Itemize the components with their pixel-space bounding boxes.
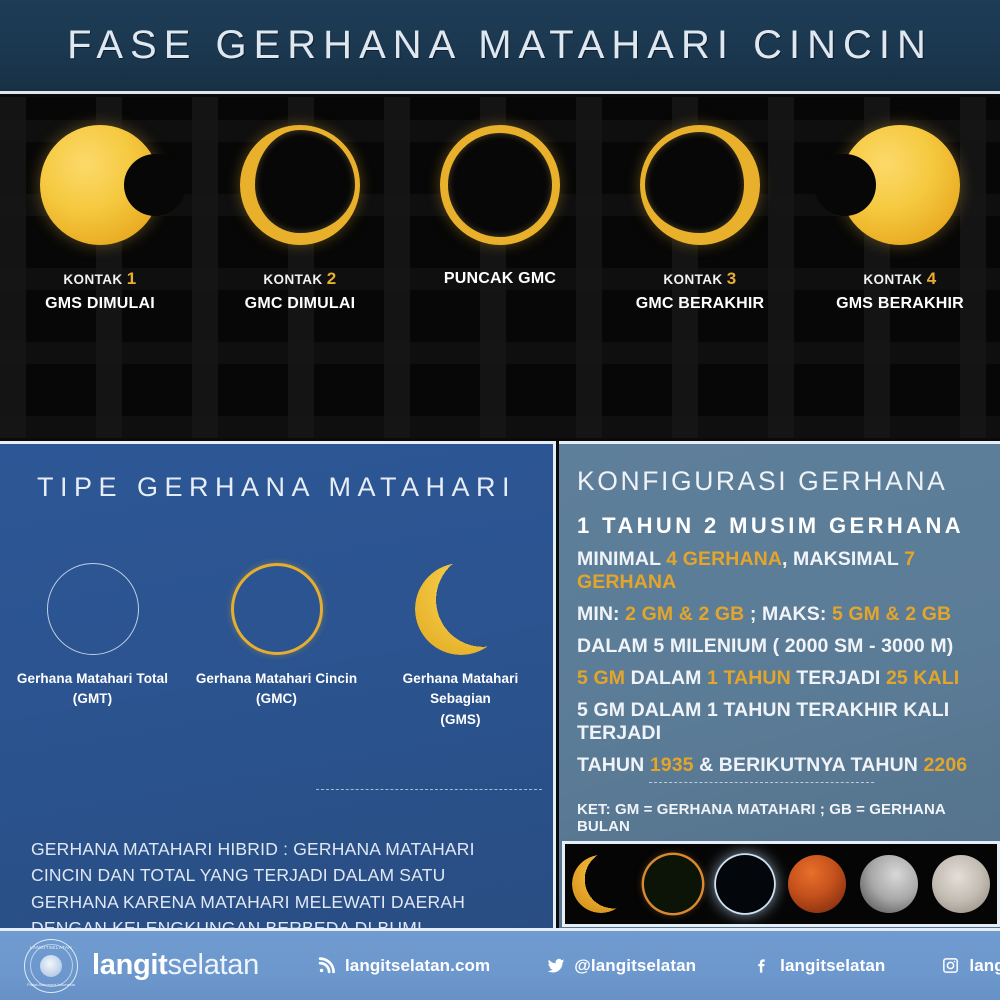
eclipse-type-annular: Gerhana Matahari Cincin (GMC) <box>189 555 365 730</box>
configuration-subtitle: 1 TAHUN 2 MUSIM GERHANA <box>577 513 1000 539</box>
eclipse-type-annular-label: Gerhana Matahari Cincin (GMC) <box>189 669 365 710</box>
eclipse-types-title: TIPE GERHANA MATAHARI <box>0 472 553 503</box>
configuration-line-6: TAHUN 1935 & BERIKUTNYA TAHUN 2206 <box>577 754 1000 777</box>
plain-text: DALAM <box>625 667 707 689</box>
eclipse-type-partial-label: Gerhana Matahari Sebagian (GMS) <box>373 669 549 730</box>
phase-contact-1: KONTAK 1 <box>45 267 155 292</box>
plain-text: TERJADI <box>791 667 886 689</box>
phase-contact-label: KONTAK <box>263 272 322 287</box>
twitter-icon <box>546 956 565 975</box>
annular-crescent-sun-photo <box>565 844 637 924</box>
configuration-title: KONFIGURASI GERHANA <box>577 466 1000 497</box>
phase-contact-2: KONTAK 2 <box>245 267 356 292</box>
phase-contact-number: 2 <box>327 269 337 288</box>
brand-wordmark: langitselatan <box>92 949 259 982</box>
partial-lunar-eclipse-photo <box>853 844 925 924</box>
infographic-root: FASE GERHANA MATAHARI CINCIN KONTAK 1 GM… <box>0 0 1000 1000</box>
eclipse-types-panel: TIPE GERHANA MATAHARI Gerhana Matahari T… <box>0 441 556 928</box>
social-link-twitter[interactable]: @langitselatan <box>546 956 696 976</box>
phase-contact-4: KONTAK 3 <box>636 267 765 292</box>
highlight-text: 25 KALI <box>886 667 959 689</box>
eclipse-type-partial: Gerhana Matahari Sebagian (GMS) <box>373 555 549 730</box>
dashed-divider-right <box>649 782 874 783</box>
phase-item-1: KONTAK 1 GMS DIMULAI <box>0 97 200 438</box>
configuration-line-1: MINIMAL 4 GERHANA, MAKSIMAL 7 GERHANA <box>577 548 1000 594</box>
type-name: Gerhana Matahari Total <box>17 671 168 686</box>
phase-contact-number: 1 <box>127 269 137 288</box>
phase-item-2: KONTAK 2 GMC DIMULAI <box>200 97 400 438</box>
eclipse-photo-strip <box>562 841 1000 927</box>
plain-text: ; MAKS: <box>744 603 832 625</box>
type-abbr: (GMS) <box>440 712 480 727</box>
social-label-website: langitselatan.com <box>345 956 490 976</box>
social-label-facebook: langitselatan <box>780 956 885 976</box>
langitselatan-seal-logo: LANGITSELATAN Portal Astronomi Indonesia <box>24 939 78 993</box>
highlight-text: 5 GM <box>577 667 625 689</box>
seal-top-text: LANGITSELATAN <box>30 945 72 950</box>
eclipse-types-row: Gerhana Matahari Total (GMT) Gerhana Mat… <box>0 555 553 730</box>
highlight-text: 1935 <box>650 754 694 776</box>
phase-name-5: GMS BERAKHIR <box>836 292 964 315</box>
brand-block[interactable]: LANGITSELATAN Portal Astronomi Indonesia… <box>24 939 259 993</box>
social-link-website[interactable]: langitselatan.com <box>317 956 490 976</box>
header-banner: FASE GERHANA MATAHARI CINCIN <box>0 0 1000 94</box>
footer-bar: LANGITSELATAN Portal Astronomi Indonesia… <box>0 928 1000 1000</box>
page-title: FASE GERHANA MATAHARI CINCIN <box>67 23 933 68</box>
plain-text: MIN: <box>577 603 625 625</box>
configuration-line-2: MIN: 2 GM & 2 GB ; MAKS: 5 GM & 2 GB <box>577 603 1000 626</box>
annular-ring-sun-photo <box>637 844 709 924</box>
type-name: Gerhana Matahari Sebagian <box>403 671 519 706</box>
configuration-lines: MINIMAL 4 GERHANA, MAKSIMAL 7 GERHANAMIN… <box>559 548 1000 777</box>
phase-contact-label: KONTAK <box>663 272 722 287</box>
social-link-facebook[interactable]: langitselatan <box>752 956 885 976</box>
phase-contact-number: 4 <box>927 269 937 288</box>
highlight-text: 1 TAHUN <box>707 667 791 689</box>
facebook-icon <box>752 956 771 975</box>
phase-row: KONTAK 1 GMS DIMULAI KONTAK 2 GMC DIMULA… <box>0 97 1000 438</box>
ring-even-icon <box>440 125 560 245</box>
type-abbr: (GMT) <box>73 691 112 706</box>
seal-bottom-text: Portal Astronomi Indonesia <box>27 982 75 987</box>
brand-bold-part: langit <box>92 949 168 981</box>
legend-note: KET: GM = GERHANA MATAHARI ; GB = GERHAN… <box>577 801 1000 835</box>
gold-ring-icon <box>189 555 365 663</box>
phase-name-2: GMC DIMULAI <box>245 292 356 315</box>
ring-uneven-right-icon <box>640 125 760 245</box>
plain-text: MINIMAL <box>577 548 666 570</box>
social-label-instagram: langitselatanmedia <box>969 956 1000 976</box>
configuration-line-3: DALAM 5 MILENIUM ( 2000 SM - 3000 M) <box>577 635 1000 658</box>
hybrid-eclipse-note: GERHANA MATAHARI HIBRID : GERHANA MATAHA… <box>31 836 531 941</box>
phase-contact-number: 3 <box>727 269 737 288</box>
highlight-text: 4 GERHANA <box>666 548 782 570</box>
configuration-line-5: 5 GM DALAM 1 TAHUN TERAKHIR KALI TERJADI <box>577 699 1000 745</box>
plain-text: DALAM 5 MILENIUM ( 2000 SM - 3000 M) <box>577 635 953 657</box>
outline-circle-icon <box>5 555 181 663</box>
social-link-instagram[interactable]: langitselatanmedia <box>941 956 1000 976</box>
type-abbr: (GMC) <box>256 691 297 706</box>
eclipse-type-total: Gerhana Matahari Total (GMT) <box>5 555 181 730</box>
plain-text: 5 GM DALAM 1 TAHUN TERAKHIR KALI TERJADI <box>577 699 949 744</box>
phase-item-5: KONTAK 4 GMS BERAKHIR <box>800 97 1000 438</box>
phase-name-1: GMS DIMULAI <box>45 292 155 315</box>
highlight-text: 2 GM & 2 GB <box>625 603 744 625</box>
phase-contact-label: KONTAK <box>863 272 922 287</box>
seal-emblem-icon <box>40 955 62 977</box>
plain-text: TAHUN <box>577 754 650 776</box>
gold-crescent-icon <box>373 555 549 663</box>
dashed-divider-left <box>316 789 542 790</box>
ring-uneven-left-icon <box>240 125 360 245</box>
total-solar-corona-photo <box>709 844 781 924</box>
sun-notch-left-icon <box>840 125 960 245</box>
sun-notch-right-icon <box>40 125 160 245</box>
social-links: langitselatan.com @langitselatan langits… <box>317 956 1000 976</box>
plain-text: , MAKSIMAL <box>782 548 904 570</box>
eclipse-type-total-label: Gerhana Matahari Total (GMT) <box>5 669 181 710</box>
full-moon-photo <box>925 844 997 924</box>
phase-name-3: PUNCAK GMC <box>444 267 556 290</box>
phase-contact-label: KONTAK <box>63 272 122 287</box>
eclipse-phases-section: KONTAK 1 GMS DIMULAI KONTAK 2 GMC DIMULA… <box>0 97 1000 438</box>
brand-light-part: selatan <box>168 949 259 981</box>
rss-icon <box>317 956 336 975</box>
phase-item-4: KONTAK 3 GMC BERAKHIR <box>600 97 800 438</box>
phase-item-3: PUNCAK GMC <box>400 97 600 438</box>
instagram-icon <box>941 956 960 975</box>
phase-contact-5: KONTAK 4 <box>836 267 964 292</box>
phase-name-4: GMC BERAKHIR <box>636 292 765 315</box>
highlight-text: 5 GM & 2 GB <box>832 603 951 625</box>
social-label-twitter: @langitselatan <box>574 956 696 976</box>
type-name: Gerhana Matahari Cincin <box>196 671 357 686</box>
blood-moon-photo <box>781 844 853 924</box>
configuration-line-4: 5 GM DALAM 1 TAHUN TERJADI 25 KALI <box>577 667 1000 690</box>
highlight-text: 2206 <box>923 754 967 776</box>
plain-text: & BERIKUTNYA TAHUN <box>694 754 924 776</box>
